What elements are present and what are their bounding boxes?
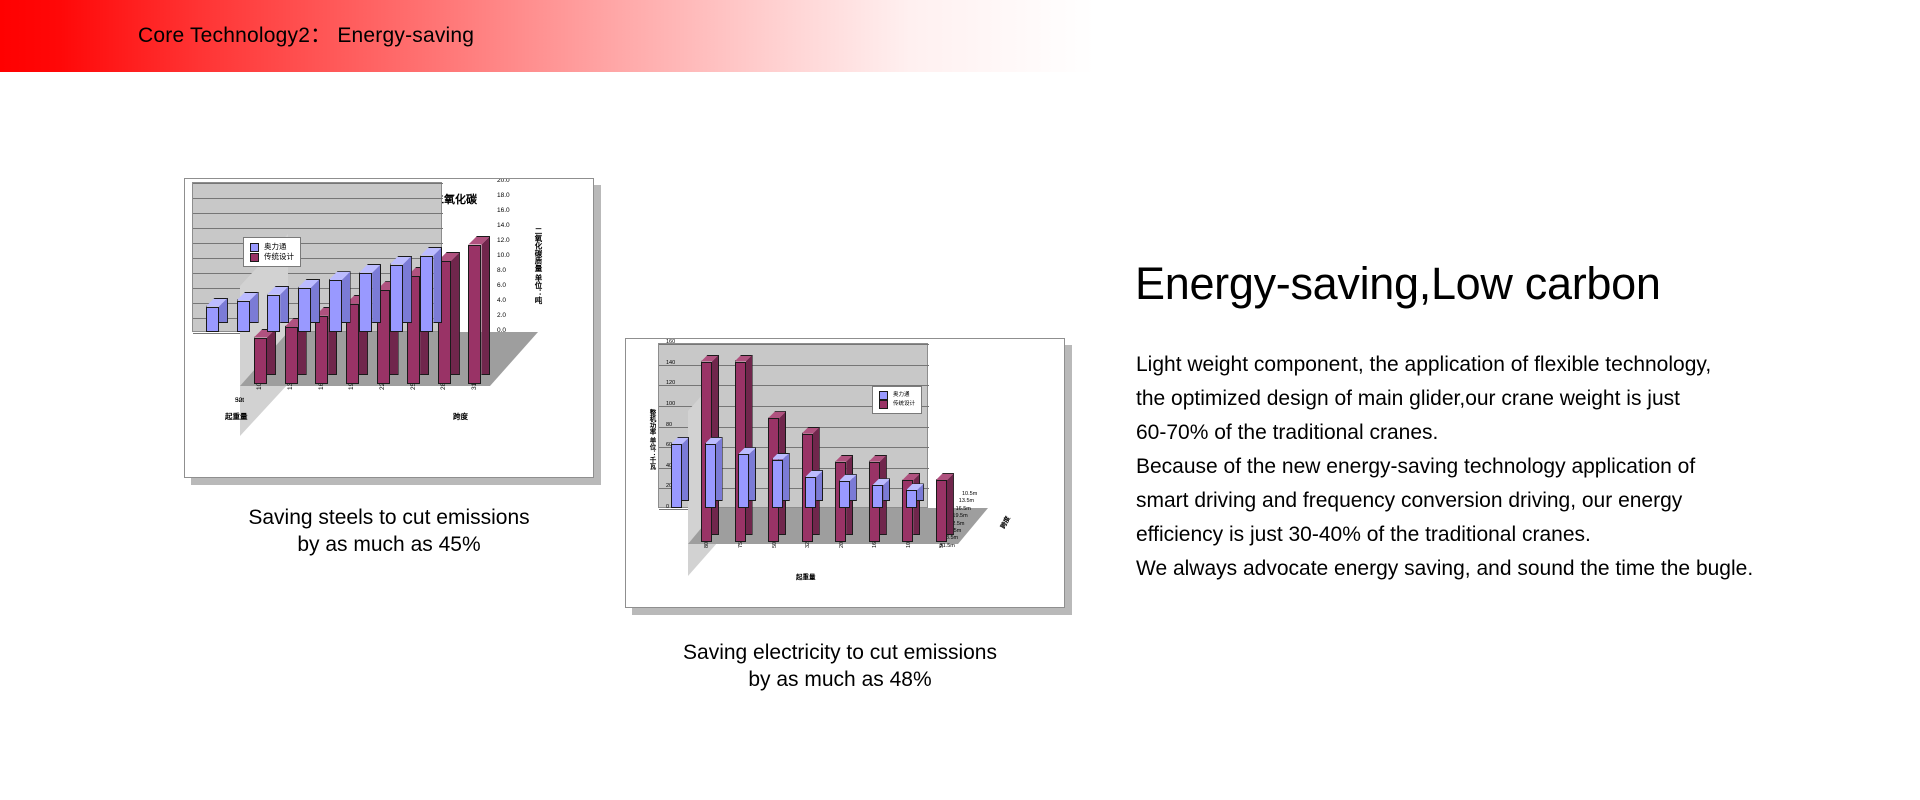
slide-root: Core Technology2： Energy-saving 所用钢材冶炼过程… — [0, 0, 1920, 800]
co2-plot-area: 0.02.04.06.08.010.012.014.016.018.020.01… — [185, 179, 593, 477]
co2-gridline — [193, 243, 443, 244]
bar-face — [671, 444, 682, 508]
co2-gridline — [193, 198, 443, 199]
bar-side — [433, 247, 442, 324]
power-bar — [671, 444, 682, 508]
co2-x-axis-title: 跨度 — [453, 411, 468, 422]
co2-bar — [267, 295, 280, 333]
co2-bar — [359, 273, 372, 332]
legend-item-1[interactable]: 传统设计 — [250, 252, 294, 262]
bar-face — [390, 265, 403, 333]
bar-face — [359, 273, 372, 332]
headline: Energy-saving,Low carbon — [1135, 258, 1661, 310]
co2-z-axis-title: 起重量 — [225, 411, 248, 422]
legend-label: 传统设计 — [893, 401, 915, 408]
legend-item-1[interactable]: 传统设计 — [879, 400, 915, 409]
co2-y-axis-title: 二氧化碳质量 单位：吨 — [533, 227, 544, 304]
bar-side — [749, 447, 756, 501]
co2-gridline — [193, 213, 443, 214]
body-paragraph-1: the optimized design of main glider,our … — [1136, 382, 1896, 416]
bar-face — [936, 480, 947, 542]
co2-bar — [285, 327, 298, 384]
power-bar — [738, 454, 749, 508]
power-z-tick: 10.5m — [962, 491, 977, 497]
power-y-axis-title: 整机功率 单位：千瓦 — [646, 409, 656, 469]
bar-face — [285, 327, 298, 384]
co2-y-tick: 12.0 — [497, 237, 510, 244]
bar-face — [237, 301, 250, 333]
co2-bar — [390, 265, 403, 333]
power-z-tick: 16.5m — [956, 506, 971, 512]
header-banner: Core Technology2： Energy-saving — [0, 0, 1100, 72]
co2-bar — [315, 316, 328, 384]
power-bar — [705, 444, 716, 508]
co2-chart-canvas: 所用钢材冶炼过程中排放的二氧化碳 0.02.04.06.08.010.012.0… — [184, 178, 594, 478]
co2-bar — [254, 338, 267, 385]
co2-chart-caption: Saving steels to cut emissions by as muc… — [184, 505, 594, 559]
power-y-tick: 140 — [666, 360, 675, 366]
power-y-tick: 100 — [666, 401, 675, 407]
co2-y-tick: 10.0 — [497, 252, 510, 259]
power-bar — [839, 481, 850, 508]
co2-y-tick: 6.0 — [497, 282, 506, 289]
bar-face — [839, 481, 850, 508]
bar-side — [451, 252, 460, 375]
bar-face — [872, 485, 883, 508]
co2-bar — [206, 307, 219, 333]
bar-face — [468, 245, 481, 385]
bar-face — [738, 454, 749, 508]
bar-side — [783, 453, 790, 501]
power-bar — [772, 460, 783, 508]
bar-side — [716, 437, 723, 501]
body-paragraph-6: We always advocate energy saving, and so… — [1136, 552, 1896, 586]
co2-y-tick: 8.0 — [497, 267, 506, 274]
power-x-axis-title: 起重量 — [796, 571, 816, 581]
legend-item-0[interactable]: 奥力通 — [250, 242, 294, 252]
legend-label: 奥力通 — [893, 392, 910, 399]
co2-y-tick: 2.0 — [497, 312, 506, 319]
power-y-tick: 160 — [666, 339, 675, 345]
power-gridline — [659, 344, 929, 345]
bar-face — [298, 288, 311, 332]
bar-face — [329, 280, 342, 332]
bar-face — [805, 477, 816, 508]
power-z-axis-title: 跨度 — [997, 514, 1012, 530]
power-y-tick: 0 — [666, 504, 669, 510]
co2-bar — [468, 245, 481, 385]
power-bar — [805, 477, 816, 508]
body-paragraph-2: 60-70% of the traditional cranes. — [1136, 416, 1896, 450]
body-paragraph-5: efficiency is just 30-40% of the traditi… — [1136, 518, 1896, 552]
legend-swatch-icon — [879, 400, 888, 409]
bar-face — [906, 490, 917, 508]
co2-y-tick: 14.0 — [497, 222, 510, 229]
body-text: Light weight component, the application … — [1136, 348, 1896, 586]
legend-swatch-icon — [250, 253, 259, 262]
body-paragraph-0: Light weight component, the application … — [1136, 348, 1896, 382]
co2-gridline — [193, 228, 443, 229]
co2-y-tick: 4.0 — [497, 297, 506, 304]
power-bar — [936, 480, 947, 542]
co2-z-tick: 32t — [235, 397, 244, 404]
bar-side — [372, 264, 381, 323]
bar-face — [267, 295, 280, 333]
co2-bar — [329, 280, 342, 332]
bar-face — [420, 256, 433, 333]
co2-bar — [298, 288, 311, 332]
co2-y-tick: 0.0 — [497, 327, 506, 334]
power-z-tick: 19.5m — [952, 513, 967, 519]
page-title: Core Technology2： Energy-saving — [138, 19, 474, 49]
bar-side — [481, 236, 490, 376]
co2-bar — [237, 301, 250, 333]
bar-side — [682, 437, 689, 501]
co2-bar — [420, 256, 433, 333]
bar-side — [947, 473, 954, 535]
power-gridline — [659, 365, 929, 366]
legend-swatch-icon — [879, 391, 888, 400]
legend-label: 奥力通 — [264, 242, 287, 252]
legend-label: 传统设计 — [264, 252, 294, 262]
power-z-tick: 13.5m — [959, 498, 974, 504]
power-y-tick: 80 — [666, 422, 672, 428]
legend-item-0[interactable]: 奥力通 — [879, 391, 915, 400]
bar-face — [315, 316, 328, 384]
power-plot-area: 02040608010012014016080t75t50t32t20t16t1… — [626, 339, 1064, 607]
bar-face — [772, 460, 783, 508]
bar-side — [403, 256, 412, 324]
power-chart-caption: Saving electricity to cut emissions by a… — [620, 640, 1060, 694]
bar-side — [342, 271, 351, 323]
co2-legend[interactable]: 奥力通传统设计 — [243, 237, 301, 267]
power-legend[interactable]: 奥力通传统设计 — [872, 386, 922, 414]
body-paragraph-3: Because of the new energy-saving technol… — [1136, 450, 1896, 484]
co2-gridline — [193, 183, 443, 184]
power-bar — [906, 490, 917, 508]
co2-y-tick: 20.0 — [497, 178, 510, 184]
power-bar — [872, 485, 883, 508]
co2-y-tick: 16.0 — [497, 207, 510, 214]
power-chart-canvas: 整机功率对比 02040608010012014016080t75t50t32t… — [625, 338, 1065, 608]
bar-face — [254, 338, 267, 385]
bar-face — [206, 307, 219, 333]
power-chart-card[interactable]: 整机功率对比 02040608010012014016080t75t50t32t… — [625, 338, 1065, 608]
power-z-tick: 31.5m — [940, 543, 955, 549]
co2-chart-card[interactable]: 所用钢材冶炼过程中排放的二氧化碳 0.02.04.06.08.010.012.0… — [184, 178, 594, 478]
bar-face — [705, 444, 716, 508]
body-paragraph-4: smart driving and frequency conversion d… — [1136, 484, 1896, 518]
co2-y-tick: 18.0 — [497, 192, 510, 199]
legend-swatch-icon — [250, 243, 259, 252]
power-y-tick: 120 — [666, 380, 675, 386]
